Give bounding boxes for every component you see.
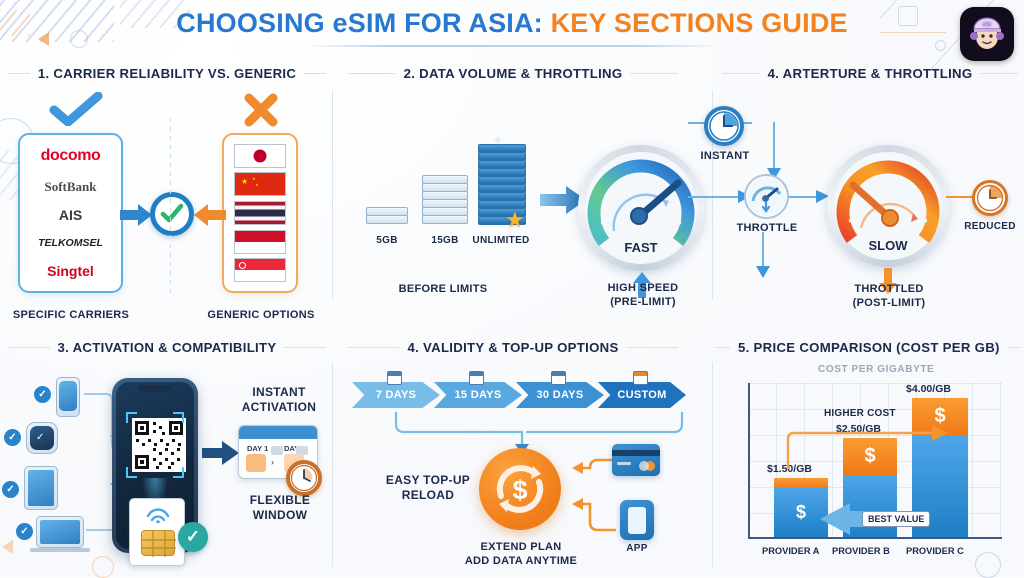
flag-thailand <box>234 201 286 225</box>
throttle-mini-gauge-icon <box>746 176 787 217</box>
check-device-tablet: ✓ <box>2 481 19 498</box>
caption-throttled-l1: THROTTLED <box>824 283 954 297</box>
rule-left <box>716 347 730 349</box>
calendar-icon-7days <box>387 371 402 385</box>
calendar-icon-custom <box>633 371 648 385</box>
section-heading-4: 3. ACTIVATION & COMPATIBILITY <box>8 340 326 355</box>
scan-bracket-tl <box>126 412 137 423</box>
flag-indonesia <box>234 230 286 254</box>
caption-flexible-window: FLEXIBLE WINDOW <box>234 493 326 523</box>
title-secondary: KEY SECTIONS GUIDE <box>551 8 848 38</box>
card-line <box>617 462 631 465</box>
connector-clock-down <box>773 122 775 170</box>
card-stripe <box>612 450 660 456</box>
rule-left <box>8 347 50 349</box>
title-primary: CHOOSING eSIM FOR ASIA: <box>176 8 543 38</box>
validity-chip-15days[interactable]: 15 DAYS <box>434 382 522 408</box>
validity-chip-custom[interactable]: CUSTOM <box>598 382 686 408</box>
section-heading-2: 2. DATA VOLUME & THROTTLING <box>348 66 678 81</box>
check-icon <box>159 201 185 227</box>
logo-telkomsel: TELKOMSEL <box>38 238 103 249</box>
caption-throttled-l2: (POST-LIMIT) <box>824 297 954 311</box>
check-device-phone: ✓ <box>34 386 51 403</box>
caption-flexible-l1: FLEXIBLE <box>234 493 326 508</box>
credit-card-icon <box>612 444 660 476</box>
gauge-throttle-small <box>744 174 789 219</box>
section-4-title: 3. ACTIVATION & COMPATIBILITY <box>58 340 277 355</box>
caption-instant-activation: INSTANT ACTIVATION <box>234 385 324 415</box>
section-2-title: 2. DATA VOLUME & THROTTLING <box>404 66 623 81</box>
check-device-watch: ✓ <box>4 429 21 446</box>
calendar-day-start-label: DAY 1 <box>247 444 268 453</box>
rule-right <box>627 347 678 349</box>
gauge-fast: FAST <box>578 145 704 271</box>
gauge-slow: SLOW <box>827 145 949 267</box>
sim-card <box>129 498 185 566</box>
arrow-phone-to-calendar <box>202 440 240 466</box>
card-logo-circle-b <box>639 461 649 471</box>
validity-chip-7days[interactable]: 7 DAYS <box>352 382 440 408</box>
section-3-title: 4. ARTERTURE & THROTTLING <box>768 66 973 81</box>
divider-col4 <box>712 362 713 567</box>
scan-bracket-tr <box>173 412 184 423</box>
stack-15gb <box>422 168 468 224</box>
caption-topup-l2: RELOAD <box>378 488 478 503</box>
chart-x-axis <box>748 537 1002 539</box>
logo-docomo: docomo <box>41 148 101 164</box>
clock-icon-reduced <box>976 184 1004 212</box>
arrow-right-blue <box>120 203 154 227</box>
validity-label-15days: 15 DAYS <box>455 389 502 401</box>
chart-category-c: PROVIDER C <box>906 546 964 556</box>
label-5gb: 5GB <box>362 235 412 248</box>
calendar-ring-right <box>296 446 308 455</box>
validity-label-30days: 30 DAYS <box>537 389 584 401</box>
arrow-left-orange <box>192 203 226 227</box>
chart-category-b: PROVIDER B <box>832 546 890 556</box>
refresh-dollar-icon: $ <box>489 458 551 520</box>
label-instant: INSTANT <box>686 150 764 164</box>
annotation-higher-cost-label: HIGHER COST <box>824 408 896 419</box>
arrowhead-down-2 <box>756 266 770 278</box>
clock-instant <box>704 106 744 146</box>
caption-high-speed: HIGH SPEED (PRE-LIMIT) <box>580 282 706 310</box>
connector-gauge-up <box>688 122 690 124</box>
gauge-label-fast: FAST <box>578 240 704 255</box>
scan-bracket-bl <box>126 467 137 478</box>
logo-ais: AIS <box>59 208 82 222</box>
clock-reduced <box>972 180 1008 216</box>
app-icon <box>620 500 654 540</box>
topup-reload-badge: $ <box>479 448 561 530</box>
clock-icon-instant <box>708 110 740 142</box>
scan-bracket-br <box>173 467 184 478</box>
connector-gauge-right <box>688 196 740 198</box>
caption-easy-topup: EASY TOP-UP RELOAD <box>378 473 478 503</box>
section-6-title: 5. PRICE COMPARISON (COST PER GB) <box>738 340 1000 355</box>
divider-col1 <box>332 90 333 300</box>
label-unlimited: UNLIMITED <box>458 235 544 248</box>
connector-throttle-down <box>762 232 764 270</box>
caption-before-limits: BEFORE LIMITS <box>378 283 508 297</box>
clock-flexible-window <box>286 460 322 496</box>
caption-extend-l1: EXTEND PLAN <box>440 541 602 555</box>
wifi-icon <box>145 507 171 523</box>
app-phone-glyph <box>628 507 646 534</box>
rule-left <box>722 73 760 75</box>
watch-check-icon: ✓ <box>36 432 44 443</box>
calendar-header <box>239 426 317 439</box>
approved-check-badge <box>150 192 194 236</box>
title-underline <box>302 45 722 47</box>
decor-triangle-bottomleft <box>2 540 13 554</box>
device-laptop-screen <box>40 520 80 544</box>
caption-flexible-l2: WINDOW <box>234 508 326 523</box>
sim-chip-lines-icon <box>142 531 176 557</box>
specific-carriers-box: docomo SoftBank AIS TELKOMSEL Singtel <box>18 133 123 293</box>
price-comparison-chart: $ $1.50/GB $ $2.50/GB $ $4.00/GB HIGHER … <box>740 383 1002 555</box>
divider-dashed-section1 <box>170 118 171 298</box>
price-label-c: $4.00/GB <box>906 383 951 395</box>
calendar-block-start <box>246 454 266 472</box>
section-heading-5: 4. VALIDITY & TOP-UP OPTIONS <box>348 340 678 355</box>
logo-softbank: SoftBank <box>44 180 96 193</box>
clock-icon-window <box>290 464 318 492</box>
rule-right <box>630 73 678 75</box>
stack-5gb <box>366 198 408 224</box>
label-reduced: REDUCED <box>956 221 1024 234</box>
phone-notch <box>138 385 172 392</box>
device-tablet <box>24 466 58 510</box>
chart-subtitle: COST PER GIGABYTE <box>818 364 934 375</box>
caption-throttled: THROTTLED (POST-LIMIT) <box>824 283 954 311</box>
validity-label-custom: CUSTOM <box>617 389 666 401</box>
section-5-title: 4. VALIDITY & TOP-UP OPTIONS <box>407 340 618 355</box>
sim-chip <box>141 530 175 556</box>
infographic-canvas: CHOOSING eSIM FOR ASIA: KEY SECTIONS GUI… <box>0 0 1024 577</box>
caption-instant-l2: ACTIVATION <box>234 400 324 415</box>
svg-text:eSI: eSI <box>983 22 991 28</box>
section-heading-6: 5. PRICE COMPARISON (COST PER GB) <box>716 340 1020 355</box>
rule-left <box>348 73 396 75</box>
rule-right <box>304 73 326 75</box>
caption-extend-plan: EXTEND PLAN ADD DATA ANYTIME <box>440 541 602 569</box>
calendar-chevron-icon: › <box>271 457 274 467</box>
calendar-icon-15days <box>469 371 484 385</box>
section-heading-3: 4. ARTERTURE & THROTTLING <box>722 66 1018 81</box>
rule-right <box>284 347 326 349</box>
qr-code <box>132 418 186 472</box>
caption-high-speed-l1: HIGH SPEED <box>580 282 706 296</box>
calendar-icon-30days <box>551 371 566 385</box>
caption-high-speed-l2: (PRE-LIMIT) <box>580 296 706 310</box>
device-phone-screen-wrap <box>59 381 77 411</box>
page-title: CHOOSING eSIM FOR ASIA: KEY SECTIONS GUI… <box>0 8 1024 47</box>
divider-col3 <box>332 362 333 567</box>
sim-verified-badge: ✓ <box>178 522 208 552</box>
svg-text:$: $ <box>512 475 527 505</box>
calendar-ring-left <box>271 446 283 455</box>
caption-topup-l1: EASY TOP-UP <box>378 473 478 488</box>
label-throttle: THROTTLE <box>728 222 806 236</box>
blue-check-icon <box>48 92 108 126</box>
annotation-best-value-label: BEST VALUE <box>862 511 930 527</box>
avatar-face-icon: eSI <box>965 12 1009 56</box>
rule-left <box>8 73 30 75</box>
rule-left <box>348 347 399 349</box>
rule-right <box>980 73 1018 75</box>
section-1-title: 1. CARRIER RELIABILITY VS. GENERIC <box>38 66 296 81</box>
device-tablet-screen <box>28 470 54 506</box>
orange-cross-icon <box>243 92 279 128</box>
bar-a-top <box>774 478 828 488</box>
validity-label-7days: 7 DAYS <box>376 389 417 401</box>
flag-singapore <box>234 258 286 282</box>
caption-instant-l1: INSTANT <box>234 385 324 400</box>
caption-extend-l2: ADD DATA ANYTIME <box>440 555 602 569</box>
chart-y-axis <box>748 383 750 539</box>
validity-chip-30days[interactable]: 30 DAYS <box>516 382 604 408</box>
device-watch: ✓ <box>26 422 58 454</box>
decor-circle-bottomright <box>975 552 1001 578</box>
star-icon: ★ <box>505 207 525 233</box>
sparkle-icon: ✦ <box>492 132 504 149</box>
qr-code-icon <box>132 418 186 472</box>
rule-right <box>1008 347 1020 349</box>
section-heading-1: 1. CARRIER RELIABILITY VS. GENERIC <box>8 66 326 81</box>
check-device-laptop: ✓ <box>16 523 33 540</box>
gauge-label-slow: SLOW <box>827 238 949 253</box>
decor-circle-bottom <box>92 556 114 578</box>
caption-generic-options: GENERIC OPTIONS <box>198 309 324 323</box>
chart-category-a: PROVIDER A <box>762 546 820 556</box>
flag-japan <box>234 144 286 168</box>
caption-specific-carriers: SPECIFIC CARRIERS <box>6 309 136 323</box>
label-app: APP <box>605 543 669 556</box>
avatar[interactable]: eSI <box>960 7 1014 61</box>
generic-options-box: ★ ★ ★ <box>222 133 298 293</box>
flag-china: ★ ★ ★ <box>234 172 286 196</box>
logo-singtel: Singtel <box>47 264 94 278</box>
